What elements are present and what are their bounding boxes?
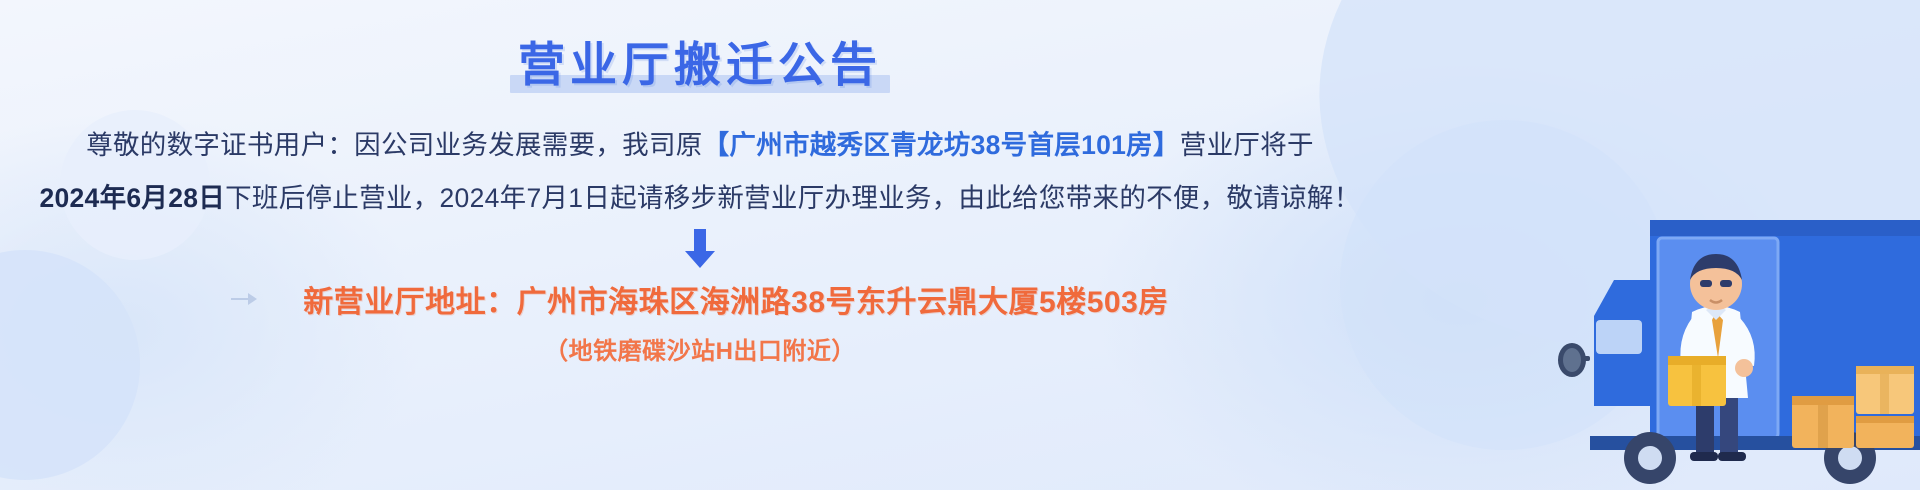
page-title-wrapper: 营业厅搬迁公告 xyxy=(518,26,882,95)
relocation-announcement-banner: 营业厅搬迁公告 尊敬的数字证书用户：因公司业务发展需要，我司原【广州市越秀区青龙… xyxy=(0,0,1920,490)
moving-truck-delivery-illustration xyxy=(1400,160,1920,490)
announcement-line-1: 尊敬的数字证书用户：因公司业务发展需要，我司原【广州市越秀区青龙坊38号首层10… xyxy=(86,125,1314,166)
new-office-address: 新营业厅地址：广州市海珠区海洲路38号东升云鼎大厦5楼503房 xyxy=(303,277,1169,321)
arrow-right-small-icon xyxy=(231,292,257,306)
new-office-address-note: （地铁磨碟沙站H出口附近） xyxy=(544,331,856,366)
old-office-address: 【广州市越秀区青龙坊38号首层101房】 xyxy=(703,130,1180,160)
line1-segment-1: 尊敬的数字证书用户：因公司业务发展需要，我司原 xyxy=(86,130,702,160)
line1-segment-3: 营业厅将于 xyxy=(1180,130,1314,160)
page-title: 营业厅搬迁公告 xyxy=(518,38,882,91)
line2-segment-2: 下班后停止营业，2024年7月1日起请移步新营业厅办理业务，由此给您带来的不便，… xyxy=(225,183,1360,213)
announcement-line-2: 2024年6月28日下班后停止营业，2024年7月1日起请移步新营业厅办理业务，… xyxy=(39,178,1360,219)
arrow-down-icon xyxy=(683,229,717,269)
announcement-content: 营业厅搬迁公告 尊敬的数字证书用户：因公司业务发展需要，我司原【广州市越秀区青龙… xyxy=(0,0,1400,490)
new-address-row: 新营业厅地址：广州市海珠区海洲路38号东升云鼎大厦5楼503房 xyxy=(231,277,1169,321)
closing-date: 2024年6月28日 xyxy=(39,183,225,213)
